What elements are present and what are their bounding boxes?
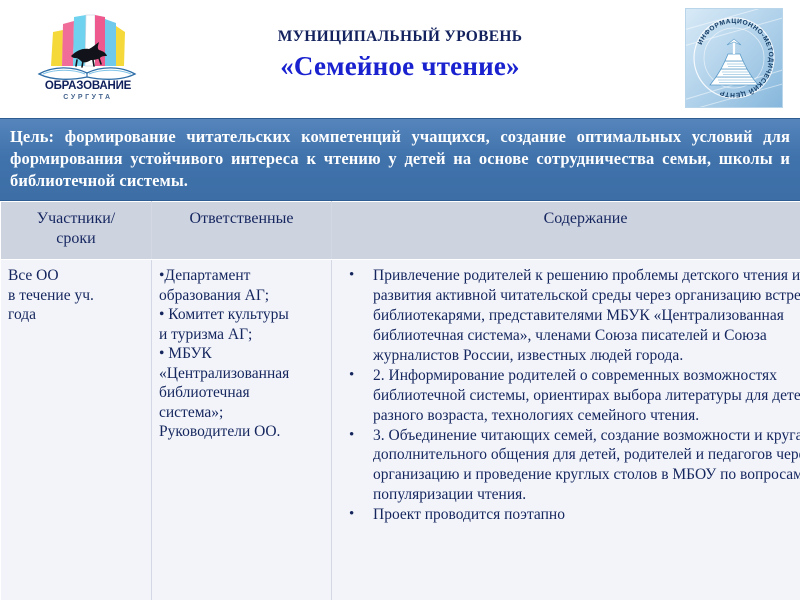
- list-item-label: 2. Информирование родителей о современны…: [373, 367, 800, 424]
- plan-table-body: Все ОО в течение уч. года •Департамент о…: [1, 260, 800, 600]
- goal-banner: Цель: формирование читательских компетен…: [0, 118, 800, 201]
- content-bullet-list: • Привлечение родителей к решению пробле…: [339, 266, 800, 525]
- bullet-icon: •: [349, 505, 354, 524]
- bullet-icon: •: [349, 366, 354, 385]
- column-header-content: Содержание: [332, 202, 800, 260]
- column-header-participants-line2: сроки: [56, 230, 95, 247]
- slide-kicker: МУНИЦИПАЛЬНЫЙ УРОВЕНЬ: [180, 28, 620, 45]
- list-item: «Централизованная: [159, 364, 325, 384]
- list-item: • 2. Информирование родителей о современ…: [339, 366, 800, 426]
- obrazovanie-surguta-logo: ОБРАЗОВАНИЕ СУРГУТА: [33, 6, 143, 112]
- list-item: библиотечная: [159, 383, 325, 403]
- informatsionno-metodicheskiy-tsentr-logo: ИНФОРМАЦИОННО-МЕТОДИЧЕСКИЙ ЦЕНТР: [685, 8, 783, 108]
- bullet-icon: •: [349, 426, 354, 445]
- list-item: •Департамент: [159, 266, 325, 286]
- list-item: • Комитет культуры: [159, 305, 325, 325]
- obrazovanie-surguta-logo-art: [33, 6, 143, 84]
- cell-responsible: •Департамент образования АГ; • Комитет к…: [152, 260, 332, 600]
- list-item: система»;: [159, 403, 325, 423]
- column-header-responsible: Ответственные: [152, 202, 332, 260]
- slide-title: «Семейное чтение»: [180, 51, 620, 81]
- obrazovanie-surguta-logo-line1: ОБРАЗОВАНИЕ: [33, 80, 143, 92]
- column-header-participants-line1: Участники/: [37, 210, 115, 227]
- bullet-icon: •: [349, 266, 354, 285]
- list-item-label: Привлечение родителей к решению проблемы…: [373, 267, 800, 364]
- list-item-label: 3. Объединение читающих семей, создание …: [373, 427, 800, 504]
- goal-text: Цель: формирование читательских компетен…: [10, 126, 790, 191]
- table-header-row: Участники/ сроки Ответственные Содержани…: [1, 202, 800, 260]
- list-item: • МБУК: [159, 344, 325, 364]
- obrazovanie-surguta-logo-line2: СУРГУТА: [33, 94, 143, 101]
- imc-logo-art: ИНФОРМАЦИОННО-МЕТОДИЧЕСКИЙ ЦЕНТР: [686, 9, 782, 107]
- list-item: Руководители ОО.: [159, 422, 325, 442]
- list-item: • Проект проводится поэтапно: [339, 505, 800, 525]
- responsible-list: •Департамент образования АГ; • Комитет к…: [159, 266, 325, 442]
- participants-line-3: года: [8, 305, 145, 325]
- plan-table: Участники/ сроки Ответственные Содержани…: [0, 201, 800, 600]
- cell-content: • Привлечение родителей к решению пробле…: [332, 260, 800, 600]
- participants-line-1: Все ОО: [8, 266, 145, 286]
- participants-line-2: в течение уч.: [8, 286, 145, 306]
- cell-participants: Все ОО в течение уч. года: [1, 260, 152, 600]
- list-item: и туризма АГ;: [159, 325, 325, 345]
- list-item: • Привлечение родителей к решению пробле…: [339, 266, 800, 366]
- title-block: МУНИЦИПАЛЬНЫЙ УРОВЕНЬ «Семейное чтение»: [180, 28, 620, 81]
- table-row: Все ОО в течение уч. года •Департамент о…: [1, 260, 800, 600]
- list-item-label: Проект проводится поэтапно: [373, 506, 565, 523]
- slide-header: ОБРАЗОВАНИЕ СУРГУТА МУНИЦИПАЛЬНЫЙ УРОВЕН…: [0, 0, 800, 118]
- list-item: • 3. Объединение читающих семей, создани…: [339, 426, 800, 506]
- column-header-participants: Участники/ сроки: [1, 202, 152, 260]
- list-item: образования АГ;: [159, 286, 325, 306]
- slide: ОБРАЗОВАНИЕ СУРГУТА МУНИЦИПАЛЬНЫЙ УРОВЕН…: [0, 0, 800, 600]
- plan-table-head: Участники/ сроки Ответственные Содержани…: [1, 202, 800, 260]
